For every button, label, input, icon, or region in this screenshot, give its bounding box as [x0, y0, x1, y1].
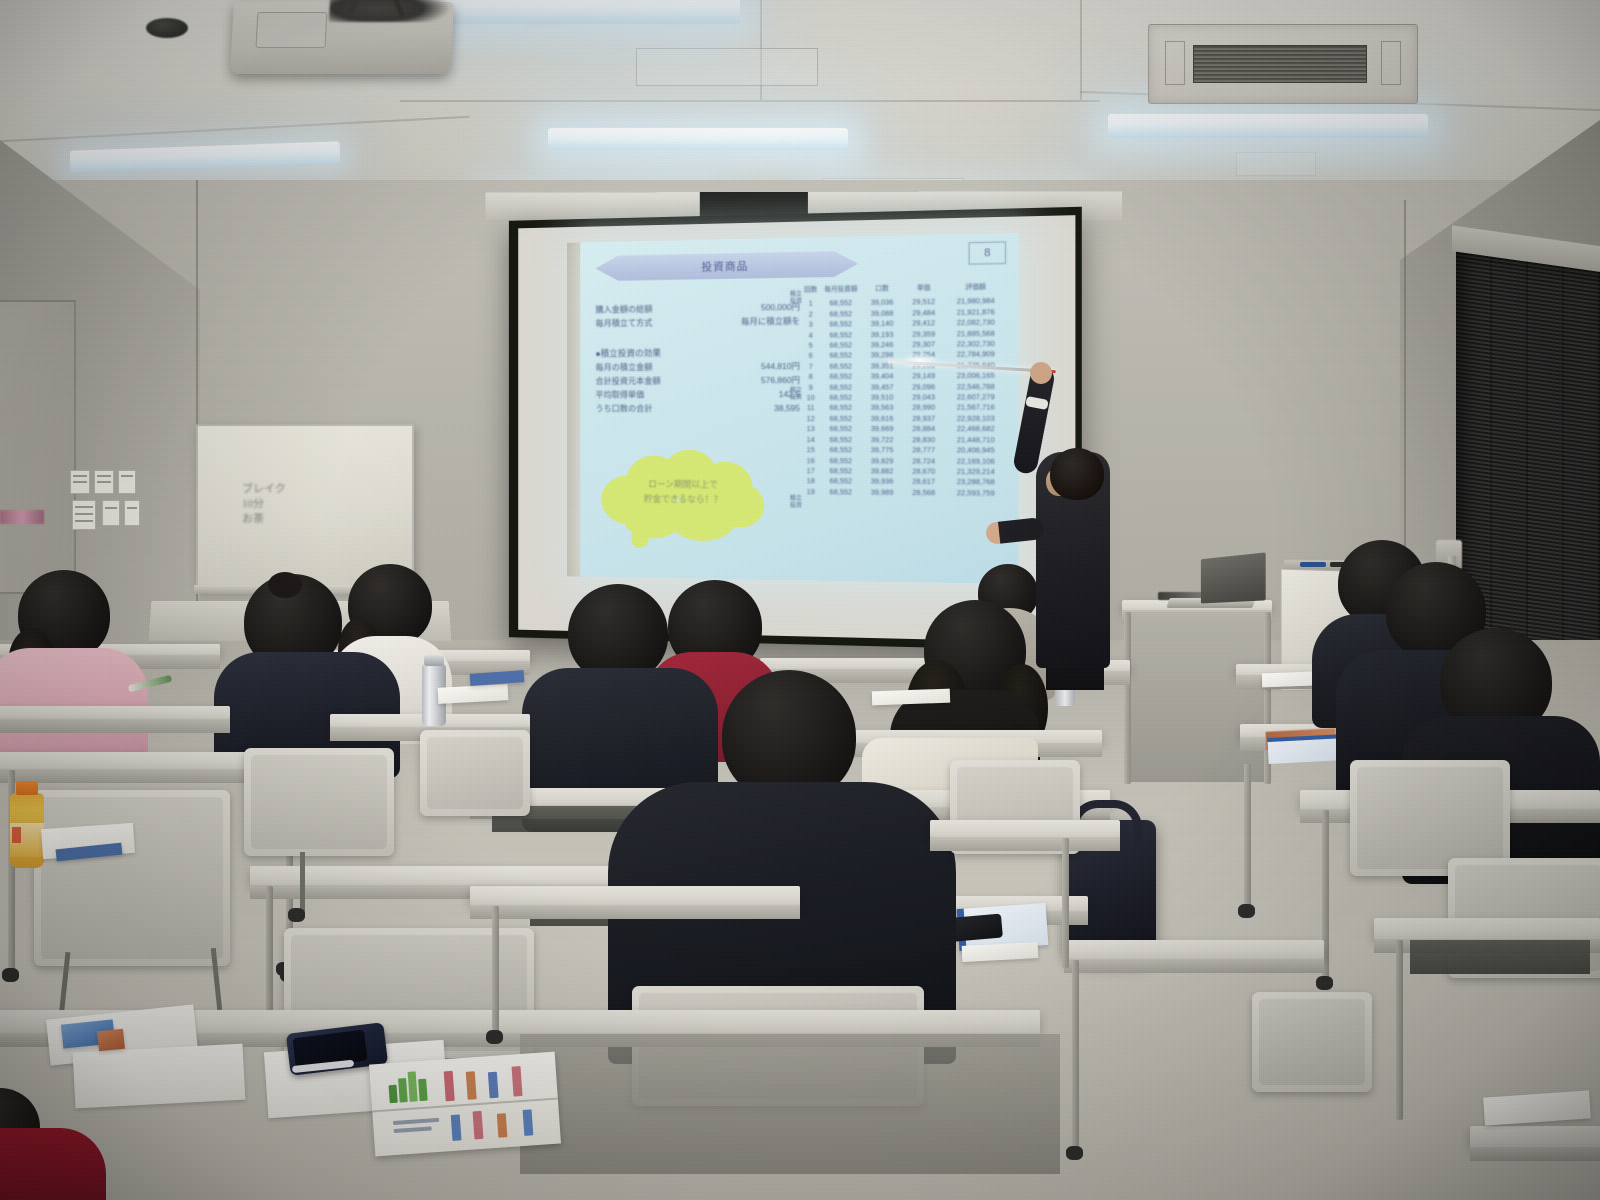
- desk-modesty-panel: [520, 1034, 1060, 1174]
- slide-left-value: 毎月に積立額を: [741, 314, 800, 329]
- table-cell: 39,616: [862, 414, 901, 425]
- table-cell: 68,552: [821, 351, 860, 362]
- paper-handout[interactable]: [872, 689, 950, 706]
- table-cell: 22,082,730: [946, 317, 1006, 328]
- orange-juice-bottle[interactable]: [10, 793, 44, 868]
- slide-left-value: 38,595: [774, 401, 800, 415]
- desk-leg: [1396, 940, 1403, 1120]
- table-cell: 22,169,106: [946, 456, 1006, 467]
- slide-left-value: 576,860円: [761, 373, 800, 387]
- desk-leg: [1072, 960, 1079, 1150]
- desk: [470, 886, 800, 906]
- desk-caster: [486, 1030, 503, 1044]
- table-cell: 22,593,759: [946, 488, 1006, 499]
- table-row: 1468,55239,72228,83021,448,710: [802, 435, 1006, 446]
- seminar-room-photo: 投資商品 8 購入金額の総額500,000円 毎月積立て方式毎月に積立額を ●積…: [0, 0, 1600, 1200]
- table-header-cell: 単価: [904, 283, 944, 294]
- slide-left-label: 購入金額の総額: [595, 302, 652, 317]
- bottle-label-mark: [12, 827, 21, 843]
- presenter-head: [1050, 448, 1104, 500]
- table-cell: 68,552: [821, 403, 860, 414]
- wall-notice: [70, 470, 90, 494]
- slide-table-vertical-label: 積立投資: [790, 388, 802, 402]
- desk: [1374, 918, 1600, 940]
- table-cell: 22,302,730: [946, 339, 1006, 350]
- table-header-cell: 回数: [802, 285, 819, 296]
- bottle-cap: [424, 655, 444, 666]
- table-row: 1068,55239,51029,04322,607,279: [802, 392, 1006, 403]
- table-cell: 28,884: [904, 424, 944, 435]
- table-body: 168,55239,03629,51221,980,984268,55239,0…: [802, 296, 1006, 499]
- table-cell: 20,406,945: [946, 445, 1006, 456]
- table-cell: 28,830: [904, 435, 944, 446]
- table-cell: 21,921,876: [946, 307, 1006, 318]
- podium-leg: [1124, 612, 1131, 784]
- table-cell: 29,149: [904, 371, 944, 382]
- desk-leg: [1062, 838, 1069, 968]
- table-cell: 4: [802, 330, 819, 341]
- table-cell: 68,552: [821, 393, 860, 404]
- table-header-cell: 毎月投資額: [821, 285, 860, 296]
- ceiling-access-panel: [1236, 152, 1316, 176]
- slide-table-vertical-label: 積立投資: [790, 496, 802, 510]
- smoke-detector: [146, 18, 188, 38]
- desk: [1064, 940, 1324, 960]
- ceiling-seam: [1080, 0, 1082, 100]
- ceiling-light: [548, 128, 848, 150]
- presenter-hand: [1030, 362, 1052, 384]
- desk-modesty-panel: [1410, 940, 1590, 974]
- table-cell: 11: [802, 403, 819, 413]
- slide-data-table: 回数 毎月投資額 口数 単価 評価額 168,55239,03629,51221…: [802, 282, 1006, 498]
- laptop-screen[interactable]: [1201, 552, 1266, 603]
- table-cell: 68,552: [821, 477, 860, 488]
- slide-left-label: 毎月積立て方式: [595, 316, 652, 330]
- table-cell: 8: [802, 372, 819, 383]
- chair-leg: [300, 852, 305, 914]
- table-header-row: 回数 毎月投資額 口数 単価 評価額: [802, 282, 1006, 296]
- table-cell: 68,552: [821, 340, 860, 351]
- table-cell: 68,552: [821, 466, 860, 477]
- table-cell: 68,552: [821, 372, 860, 383]
- table-cell: 29,484: [904, 308, 944, 319]
- table-cell: 28,777: [904, 445, 944, 456]
- table-cell: 21,567,716: [946, 403, 1006, 414]
- table-cell: 13: [802, 424, 819, 434]
- table-cell: 39,088: [862, 308, 901, 319]
- desk-caster: [2, 968, 19, 982]
- table-cell: 39,404: [862, 372, 901, 383]
- hair-bun: [268, 572, 302, 598]
- slide-title-banner: 投資商品: [595, 251, 858, 282]
- projected-slide: 投資商品 8 購入金額の総額500,000円 毎月積立て方式毎月に積立額を ●積…: [580, 233, 1018, 584]
- table-cell: 29,359: [904, 329, 944, 340]
- slide-left-label: 合計投資元本金額: [595, 374, 660, 388]
- table-cell: 29,512: [904, 297, 944, 308]
- table-cell: 2: [802, 309, 819, 320]
- desk: [930, 820, 1120, 838]
- table-header-cell: 口数: [862, 284, 901, 295]
- table-cell: 68,552: [821, 330, 860, 341]
- table-cell: 29,412: [904, 318, 944, 329]
- table-cell: 68,552: [821, 382, 860, 393]
- table-cell: 39,563: [862, 403, 901, 414]
- table-cell: 68,552: [821, 319, 860, 330]
- callout-tail: [632, 526, 649, 548]
- table-cell: 22,546,788: [946, 381, 1006, 392]
- slide-left-column: 購入金額の総額500,000円 毎月積立て方式毎月に積立額を ●積立投資の効果 …: [595, 300, 799, 416]
- ceiling-air-conditioner-vent: [1148, 24, 1418, 104]
- slide-left-label: 平均取得単価: [595, 388, 644, 402]
- desk-leg: [492, 906, 499, 1036]
- chair[interactable]: [34, 790, 230, 966]
- table-cell: 28,937: [904, 414, 944, 425]
- table-cell: 39,989: [862, 487, 901, 498]
- wall-notice: [72, 500, 96, 530]
- table-cell: 19: [802, 487, 819, 498]
- vent-grille: [1193, 45, 1367, 83]
- table-cell: 1: [802, 299, 819, 310]
- table-cell: 39,140: [862, 319, 901, 330]
- table-header-cell: 評価額: [946, 282, 1006, 294]
- table-cell: 39,829: [862, 456, 901, 467]
- door-sign: [0, 510, 44, 524]
- table-cell: 39,193: [862, 329, 901, 340]
- table-cell: 28,724: [904, 456, 944, 467]
- desk: [0, 706, 230, 720]
- table-cell: 5: [802, 341, 819, 352]
- bottle-cap: [16, 781, 38, 795]
- color-chart-brochure[interactable]: [369, 1052, 561, 1157]
- chair-caster: [288, 908, 305, 922]
- table-cell: 22,928,103: [946, 413, 1006, 424]
- desk-leg: [1244, 764, 1251, 908]
- table-cell: 21,980,984: [946, 296, 1006, 307]
- slide-left-label: 毎月の積立金額: [595, 360, 652, 374]
- entrance-door[interactable]: [0, 300, 76, 594]
- slide-left-label: うち口数の合計: [595, 401, 652, 415]
- table-cell: 68,552: [821, 424, 860, 434]
- table-cell: 68,552: [821, 309, 860, 320]
- table-cell: 39,246: [862, 340, 901, 351]
- table-cell: 12: [802, 414, 819, 424]
- table-cell: 68,552: [821, 445, 860, 456]
- whiteboard-note: ブレイク10分お茶: [242, 482, 286, 527]
- ceiling-light: [1108, 114, 1428, 138]
- table-cell: 22,468,682: [946, 424, 1006, 435]
- projector-lens: [255, 12, 327, 48]
- table-cell: 10: [802, 393, 819, 403]
- ceiling-access-panel: [636, 48, 818, 86]
- slide-table-vertical-label: 積立投資: [790, 292, 802, 306]
- table-cell: 39,882: [862, 466, 901, 477]
- marker[interactable]: [1300, 562, 1326, 567]
- table-row: 1168,55239,56328,99021,567,716: [802, 403, 1006, 414]
- table-cell: 68,552: [821, 361, 860, 372]
- table-cell: 28,568: [904, 487, 944, 498]
- torso: [0, 1128, 106, 1200]
- desk-caster: [1238, 904, 1255, 918]
- table-cell: 18: [802, 476, 819, 487]
- table-cell: 68,552: [821, 487, 860, 498]
- paper-handout[interactable]: [73, 1044, 246, 1109]
- table-cell: 23,006,165: [946, 371, 1006, 382]
- podium-panel: [1126, 612, 1268, 782]
- table-cell: 21,885,568: [946, 328, 1006, 339]
- table-cell: 3: [802, 320, 819, 331]
- slide-callout-cloud: ローン期間以上で貯金できるなら！？: [601, 450, 764, 542]
- table-cell: 21,448,710: [946, 435, 1006, 446]
- table-cell: 7: [802, 362, 819, 373]
- table-cell: 17: [802, 466, 819, 477]
- table-cell: 22,784,909: [946, 349, 1006, 360]
- wall-notice: [124, 500, 140, 526]
- table-cell: 68,552: [821, 414, 860, 425]
- table-cell: 15: [802, 445, 819, 455]
- table-cell: 22,607,279: [946, 392, 1006, 403]
- table-cell: 29,096: [904, 382, 944, 393]
- table-cell: 16: [802, 456, 819, 466]
- table-cell: 9: [802, 382, 819, 393]
- table-cell: 39,936: [862, 477, 901, 488]
- blue-document-folder[interactable]: [1267, 734, 1346, 764]
- table-cell: 6: [802, 351, 819, 362]
- table-cell: 28,670: [904, 466, 944, 477]
- table-row: 1268,55239,61628,93722,928,103: [802, 413, 1006, 424]
- table-row: 968,55239,45729,09622,546,788: [802, 381, 1006, 393]
- table-cell: 39,722: [862, 435, 901, 446]
- slide-left-value: 544,810円: [761, 359, 800, 373]
- vent-tab: [1381, 41, 1401, 85]
- table-cell: 68,552: [821, 456, 860, 467]
- table-cell: 39,775: [862, 445, 901, 456]
- desk: [250, 866, 630, 886]
- desk: [1470, 1126, 1600, 1148]
- table-row: 1968,55239,98928,56822,593,759: [802, 487, 1006, 499]
- table-cell: 29,043: [904, 392, 944, 403]
- ceiling-seam: [400, 100, 1100, 102]
- table-cell: 28,617: [904, 477, 944, 488]
- table-row: 1568,55239,77528,77720,406,945: [802, 445, 1006, 456]
- wall-notice: [118, 470, 136, 494]
- table-cell: 68,552: [821, 298, 860, 309]
- chair[interactable]: [1252, 992, 1372, 1092]
- table-cell: 21,329,214: [946, 467, 1006, 478]
- chair[interactable]: [244, 748, 394, 856]
- wall-notice: [94, 470, 114, 494]
- wall-notice: [102, 500, 120, 526]
- table-cell: 68,552: [821, 435, 860, 446]
- table-cell: 29,307: [904, 339, 944, 350]
- table-cell: 23,288,768: [946, 477, 1006, 488]
- table-cell: 39,669: [862, 424, 901, 435]
- callout-text: ローン期間以上で貯金できるなら！？: [620, 477, 746, 508]
- table-cell: 39,457: [862, 382, 901, 393]
- table-cell: 39,510: [862, 393, 901, 404]
- slide-page-number: 8: [969, 241, 1006, 264]
- table-cell: 28,990: [904, 403, 944, 414]
- desk-caster: [1066, 1146, 1083, 1160]
- table-cell: 39,036: [862, 298, 901, 309]
- table-cell: 14: [802, 435, 819, 445]
- chair[interactable]: [420, 730, 530, 816]
- ceiling-projector: [230, 2, 454, 74]
- torso: [0, 648, 148, 760]
- vent-tab: [1165, 41, 1185, 85]
- table-row: 1368,55239,66928,88422,468,682: [802, 424, 1006, 435]
- whiteboard[interactable]: ブレイク10分お茶: [196, 424, 414, 588]
- desk-caster: [1316, 976, 1333, 990]
- color-chart-on-paper: [97, 1029, 125, 1052]
